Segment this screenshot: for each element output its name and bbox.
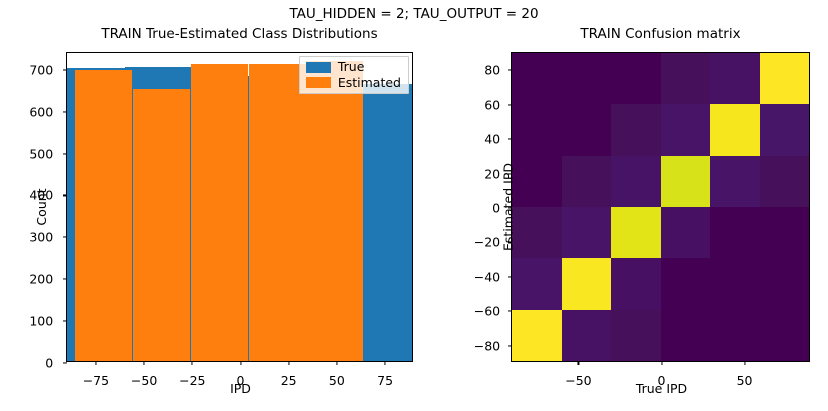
figure-suptitle: TAU_HIDDEN = 2; TAU_OUTPUT = 20 <box>0 6 828 22</box>
confusion-matrix-cell <box>611 310 661 361</box>
confusion-matrix-y-tick-mark <box>508 70 512 71</box>
confusion-matrix-y-tick-label: −40 <box>474 269 500 284</box>
confusion-matrix-y-tick-mark <box>508 207 512 208</box>
legend-entry-estimated: Estimated <box>306 77 401 90</box>
histogram-bar-estimated <box>191 64 248 361</box>
histogram-y-tick-label: 300 <box>29 230 53 245</box>
confusion-matrix-cell <box>661 258 711 309</box>
histogram-bar-estimated <box>133 89 190 361</box>
confusion-matrix-cell <box>611 207 661 258</box>
histogram-y-tick-label: 0 <box>45 356 53 371</box>
histogram-title: TRAIN True-Estimated Class Distributions <box>66 26 413 42</box>
confusion-matrix-cell <box>512 258 562 309</box>
histogram-legend[interactable]: True Estimated <box>299 56 409 94</box>
confusion-matrix-x-tick-label: −50 <box>565 373 591 388</box>
confusion-matrix-cell <box>661 156 711 207</box>
confusion-matrix-cell <box>760 53 810 104</box>
confusion-matrix-y-tick-label: 80 <box>484 63 500 78</box>
confusion-matrix-x-tick-mark <box>661 361 662 365</box>
confusion-matrix-cell <box>512 310 562 361</box>
confusion-matrix-cell <box>710 310 760 361</box>
confusion-matrix-cell <box>760 207 810 258</box>
confusion-matrix-cell <box>562 258 612 309</box>
histogram-bar-estimated <box>75 70 132 361</box>
histogram-x-tick-mark <box>385 361 386 365</box>
histogram-x-tick-label: 50 <box>329 373 345 388</box>
confusion-matrix-cell <box>760 156 810 207</box>
legend-entry-true: True <box>306 61 401 74</box>
histogram-x-tick-label: 75 <box>377 373 393 388</box>
legend-swatch-estimated-icon <box>306 77 331 88</box>
confusion-matrix-cell <box>710 207 760 258</box>
confusion-matrix-y-tick-mark <box>508 139 512 140</box>
histogram-x-tick-mark <box>336 361 337 365</box>
histogram-x-tick-label: −75 <box>83 373 109 388</box>
confusion-matrix-cell <box>760 310 810 361</box>
confusion-matrix-cell <box>562 310 612 361</box>
confusion-matrix-cell <box>562 53 612 104</box>
histogram-y-tick-label: 400 <box>29 188 53 203</box>
confusion-matrix-cell <box>512 156 562 207</box>
confusion-matrix-y-tick-label: −20 <box>474 235 500 250</box>
confusion-matrix-cell <box>512 53 562 104</box>
histogram-y-tick-label: 200 <box>29 272 53 287</box>
confusion-matrix-cell <box>512 104 562 155</box>
confusion-matrix-y-tick-label: −60 <box>474 304 500 319</box>
confusion-matrix-y-tick-mark <box>508 242 512 243</box>
confusion-matrix-cell <box>611 156 661 207</box>
histogram-x-tick-mark <box>288 361 289 365</box>
histogram-x-tick-mark <box>240 361 241 365</box>
confusion-matrix-cell <box>611 258 661 309</box>
confusion-matrix-y-tick-label: 20 <box>484 166 500 181</box>
histogram-axes: Count IPD 0100200300400500600700 −75−50−… <box>66 52 413 362</box>
legend-swatch-true-icon <box>306 62 331 73</box>
histogram-y-tick-mark <box>63 362 67 363</box>
confusion-matrix-y-tick-mark <box>508 276 512 277</box>
histogram-bar-estimated <box>306 61 363 361</box>
histogram-bar-true <box>356 84 412 361</box>
histogram-y-tick-label: 500 <box>29 146 53 161</box>
legend-label-true: True <box>338 61 365 74</box>
histogram-plot-area <box>67 53 412 361</box>
confusion-matrix-grid <box>512 53 809 361</box>
confusion-matrix-x-tick-label: 50 <box>737 373 753 388</box>
confusion-matrix-cell <box>661 53 711 104</box>
histogram-x-tick-label: 0 <box>237 373 245 388</box>
confusion-matrix-cell <box>710 258 760 309</box>
confusion-matrix-y-tick-mark <box>508 311 512 312</box>
confusion-matrix-cell <box>611 53 661 104</box>
histogram-x-tick-label: 25 <box>281 373 297 388</box>
histogram-y-tick-label: 100 <box>29 314 53 329</box>
confusion-matrix-x-tick-mark <box>744 361 745 365</box>
confusion-matrix-title: TRAIN Confusion matrix <box>511 26 810 42</box>
confusion-matrix-y-tick-label: −80 <box>474 338 500 353</box>
confusion-matrix-x-tick-label: 0 <box>658 373 666 388</box>
confusion-matrix-cell <box>661 104 711 155</box>
histogram-y-tick-label: 600 <box>29 104 53 119</box>
confusion-matrix-cell <box>710 104 760 155</box>
histogram-bar-estimated <box>249 64 306 361</box>
confusion-matrix-cell <box>661 310 711 361</box>
confusion-matrix-cell <box>710 156 760 207</box>
confusion-matrix-x-tick-mark <box>578 361 579 365</box>
confusion-matrix-y-tick-mark <box>508 345 512 346</box>
histogram-x-tick-label: −50 <box>131 373 157 388</box>
confusion-matrix-cell <box>562 104 612 155</box>
confusion-matrix-cell <box>562 207 612 258</box>
histogram-x-tick-mark <box>144 361 145 365</box>
confusion-matrix-cell <box>562 156 612 207</box>
confusion-matrix-cell <box>661 207 711 258</box>
confusion-matrix-y-tick-label: 40 <box>484 132 500 147</box>
confusion-matrix-y-tick-mark <box>508 173 512 174</box>
confusion-matrix-cell <box>760 258 810 309</box>
histogram-x-tick-mark <box>95 361 96 365</box>
confusion-matrix-y-tick-label: 60 <box>484 97 500 112</box>
confusion-matrix-cell <box>512 207 562 258</box>
legend-label-estimated: Estimated <box>338 77 401 90</box>
histogram-y-tick-label: 700 <box>29 62 53 77</box>
matplotlib-figure: TAU_HIDDEN = 2; TAU_OUTPUT = 20 TRAIN Tr… <box>0 0 828 411</box>
confusion-matrix-axes: Estimated IPD True IPD −80−60−40−2002040… <box>511 52 810 362</box>
histogram-x-tick-label: −25 <box>179 373 205 388</box>
confusion-matrix-cell <box>760 104 810 155</box>
confusion-matrix-y-tick-mark <box>508 104 512 105</box>
confusion-matrix-cell <box>611 104 661 155</box>
confusion-matrix-y-tick-label: 0 <box>492 201 500 216</box>
confusion-matrix-cell <box>710 53 760 104</box>
histogram-x-tick-mark <box>192 361 193 365</box>
